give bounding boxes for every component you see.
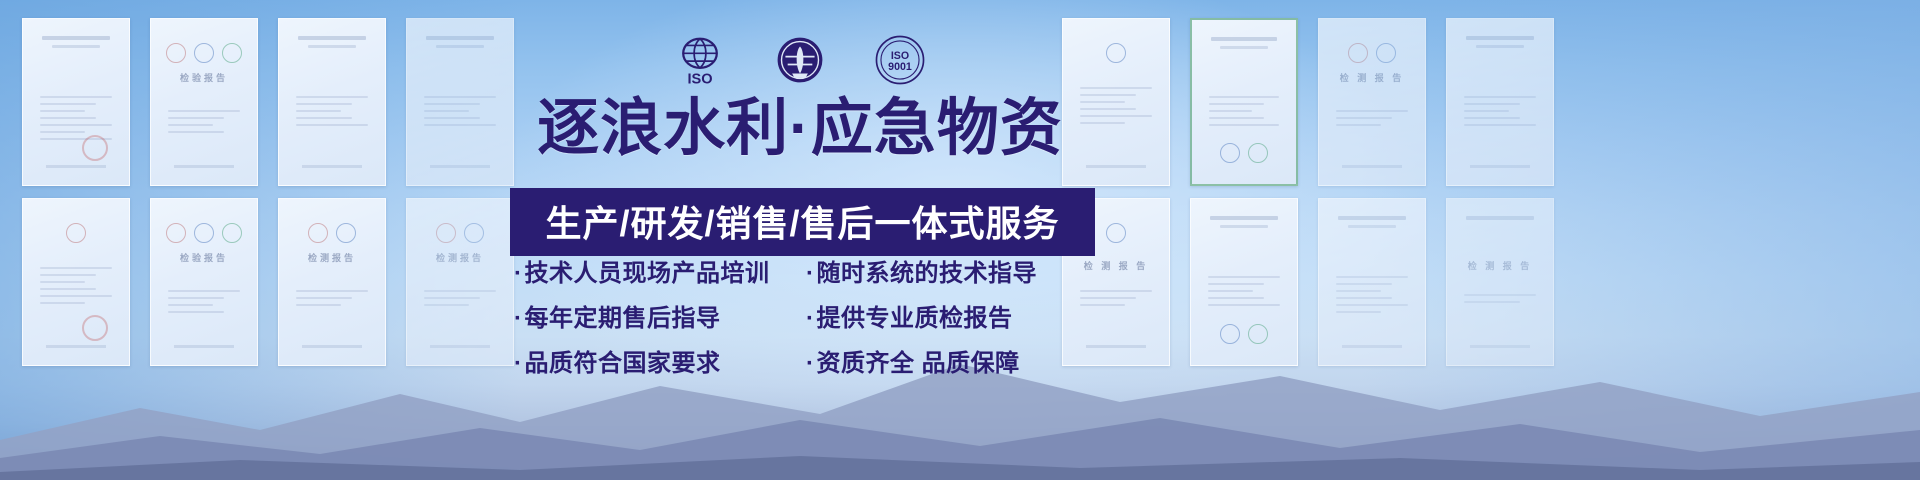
list-item: ·资质齐全 品质保障 — [806, 343, 1056, 378]
quality-emblem-badge-icon — [772, 32, 828, 88]
banner-content: ISO ISO 9001 逐浪水利·应急物资 生产/研发/销售/售后一体式服务 … — [500, 0, 1100, 480]
svg-text:ISO: ISO — [891, 50, 909, 62]
iso-badge-label: ISO — [687, 72, 712, 88]
certificate-thumbnail — [22, 18, 130, 186]
svg-text:9001: 9001 — [888, 61, 912, 73]
bullet-dot-icon: · — [806, 305, 815, 332]
page-title: 逐浪水利·应急物资 — [490, 96, 1110, 161]
bullet-dot-icon: · — [514, 350, 523, 377]
certificate-thumbnail — [1190, 18, 1298, 186]
certificate-title: 检测报告 — [413, 251, 507, 264]
list-item-label: 提供专业质检报告 — [817, 305, 1013, 332]
feature-bullet-grid: ·技术人员现场产品培训 ·随时系统的技术指导 ·每年定期售后指导 ·提供专业质检… — [514, 248, 1100, 383]
certificate-title: 检验报告 — [157, 71, 251, 84]
bullet-dot-icon: · — [806, 260, 815, 287]
certificate-title: 检验报告 — [157, 251, 251, 264]
iso-badge-row: ISO ISO 9001 — [500, 32, 1100, 88]
certificate-thumbnail — [278, 18, 386, 186]
list-item: ·随时系统的技术指导 — [806, 253, 1056, 288]
service-subtitle-bar: 生产/研发/销售/售后一体式服务 — [510, 188, 1095, 256]
list-item-label: 技术人员现场产品培训 — [525, 260, 770, 287]
list-item-label: 品质符合国家要求 — [525, 350, 721, 377]
list-item-label: 每年定期售后指导 — [525, 305, 721, 332]
list-item: ·技术人员现场产品培训 — [514, 253, 806, 288]
certificate-title: 检测报告 — [285, 251, 379, 264]
certificate-thumbnail: 检 测 报 告 — [1318, 18, 1426, 186]
certificate-thumbnail — [1446, 18, 1554, 186]
banner-stage: 检验报告 — [0, 0, 1920, 480]
bullet-dot-icon: · — [514, 305, 523, 332]
certificate-thumbnail: 检验报告 — [150, 18, 258, 186]
list-item-label: 资质齐全 品质保障 — [817, 350, 1020, 377]
list-item-label: 随时系统的技术指导 — [817, 260, 1038, 287]
list-item: ·每年定期售后指导 — [514, 298, 806, 333]
iso-9001-badge-icon: ISO 9001 — [872, 32, 928, 88]
bullet-dot-icon: · — [514, 260, 523, 287]
bullet-dot-icon: · — [806, 350, 815, 377]
iso-globe-badge-icon: ISO — [672, 32, 728, 88]
list-item: ·品质符合国家要求 — [514, 343, 806, 378]
list-item: ·提供专业质检报告 — [806, 298, 1056, 333]
